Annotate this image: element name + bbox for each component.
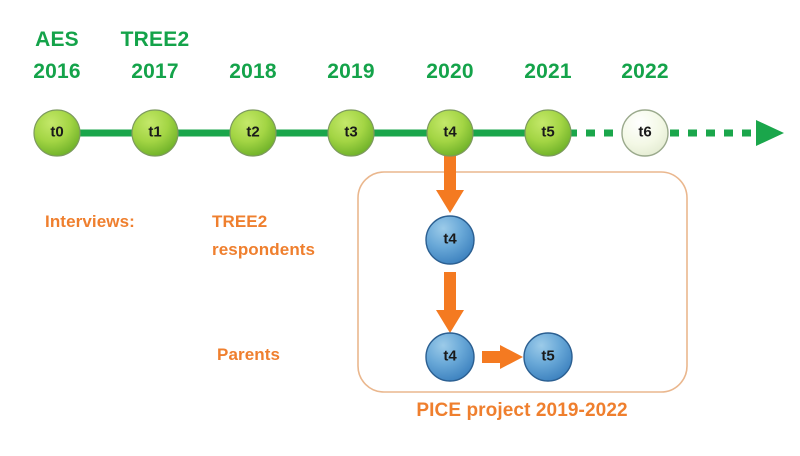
pice-node-label-parent-t5: t5 <box>541 349 554 366</box>
year-label-2018: 2018 <box>229 60 277 84</box>
study-label-tree2: TREE2 <box>121 28 190 52</box>
timeline-node-label-t3: t3 <box>344 125 357 142</box>
year-label-2022: 2022 <box>621 60 669 84</box>
timeline-node-label-t6: t6 <box>638 125 651 142</box>
pice-node-label-parent-t4: t4 <box>443 349 456 366</box>
study-label-aes: AES <box>35 28 79 52</box>
timeline-node-label-t5: t5 <box>541 125 554 142</box>
connector-parent-t4-to-t5 <box>482 345 523 369</box>
timeline-arrowhead-icon <box>756 120 784 146</box>
year-label-2019: 2019 <box>327 60 375 84</box>
timeline-node-label-t0: t0 <box>50 125 63 142</box>
connector-timeline-to-tree2 <box>436 152 464 213</box>
pice-project-caption: PICE project 2019-2022 <box>416 400 627 421</box>
interviews-section-label: Interviews: <box>45 212 135 231</box>
timeline-node-label-t1: t1 <box>148 125 161 142</box>
year-label-2020: 2020 <box>426 60 474 84</box>
interviews-row-label-tree2-line1: TREE2 <box>212 212 267 231</box>
timeline-node-label-t4: t4 <box>443 125 456 142</box>
timeline-diagram: AES TREE2 2016 2017 2018 2019 2020 2021 … <box>0 0 800 456</box>
pice-project-box <box>358 172 687 392</box>
year-label-2017: 2017 <box>131 60 179 84</box>
pice-node-label-tree2-t4: t4 <box>443 232 456 249</box>
interviews-row-label-parents: Parents <box>217 345 280 364</box>
year-label-2016: 2016 <box>33 60 81 84</box>
timeline-node-label-t2: t2 <box>246 125 259 142</box>
interviews-row-label-tree2-line2: respondents <box>212 240 315 259</box>
connector-tree2-to-parent <box>436 272 464 333</box>
year-label-2021: 2021 <box>524 60 572 84</box>
